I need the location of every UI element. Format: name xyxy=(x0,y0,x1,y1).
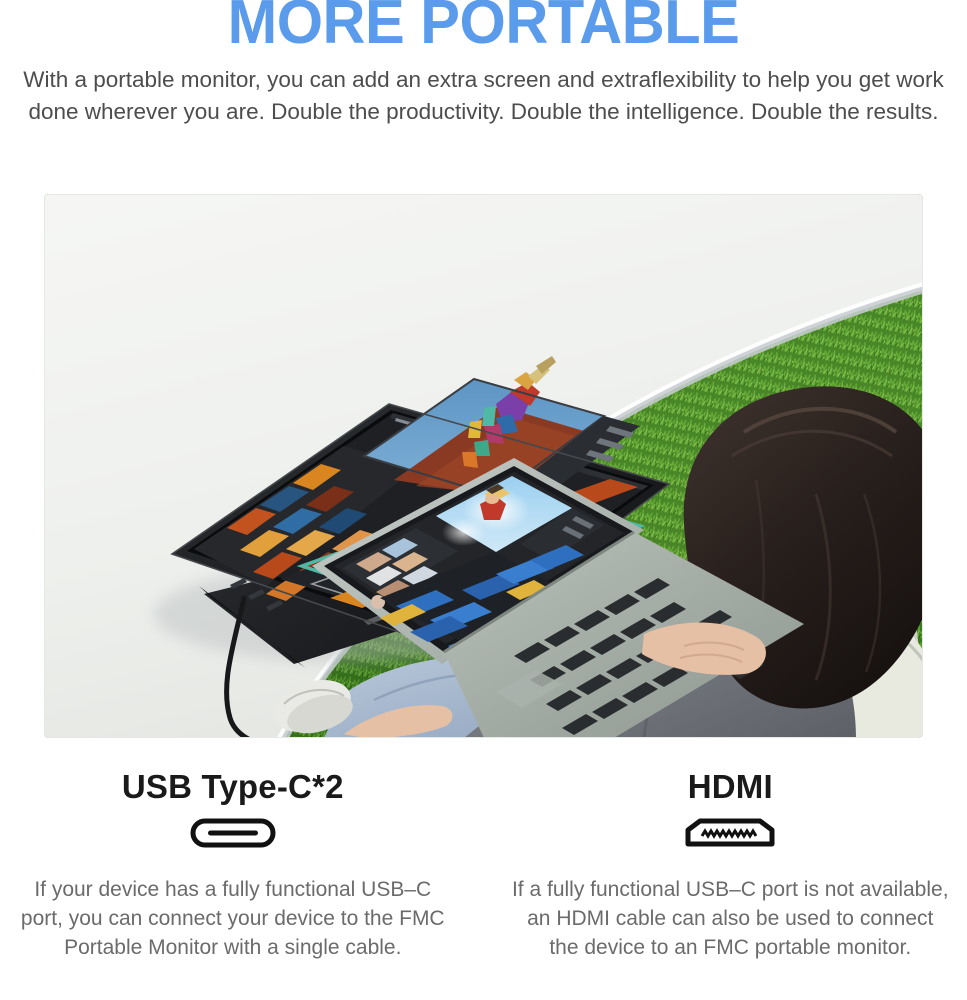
hdmi-title: HDMI xyxy=(688,770,773,803)
product-feature-page: MORE PORTABLE With a portable monitor, y… xyxy=(0,0,967,1000)
port-column-hdmi: HDMI If a fully functional USB–C port is… xyxy=(484,762,967,1000)
usb-c-port-icon-glyph xyxy=(188,816,278,850)
ports-section: USB Type-C*2 If your device has a fully … xyxy=(0,762,967,1000)
usb-c-port-icon xyxy=(188,816,278,850)
photo-illustration xyxy=(44,194,923,738)
port-column-usb-c: USB Type-C*2 If your device has a fully … xyxy=(0,762,484,1000)
page-title: MORE PORTABLE xyxy=(19,0,947,54)
usb-c-title: USB Type-C*2 xyxy=(122,770,344,803)
usb-c-description: If your device has a fully functional US… xyxy=(18,876,448,963)
hdmi-port-icon-glyph xyxy=(682,816,778,850)
lifestyle-photo xyxy=(44,194,923,738)
hdmi-description: If a fully functional USB–C port is not … xyxy=(510,876,950,963)
hdmi-port-icon xyxy=(682,816,778,850)
page-subtitle: With a portable monitor, you can add an … xyxy=(0,64,967,128)
